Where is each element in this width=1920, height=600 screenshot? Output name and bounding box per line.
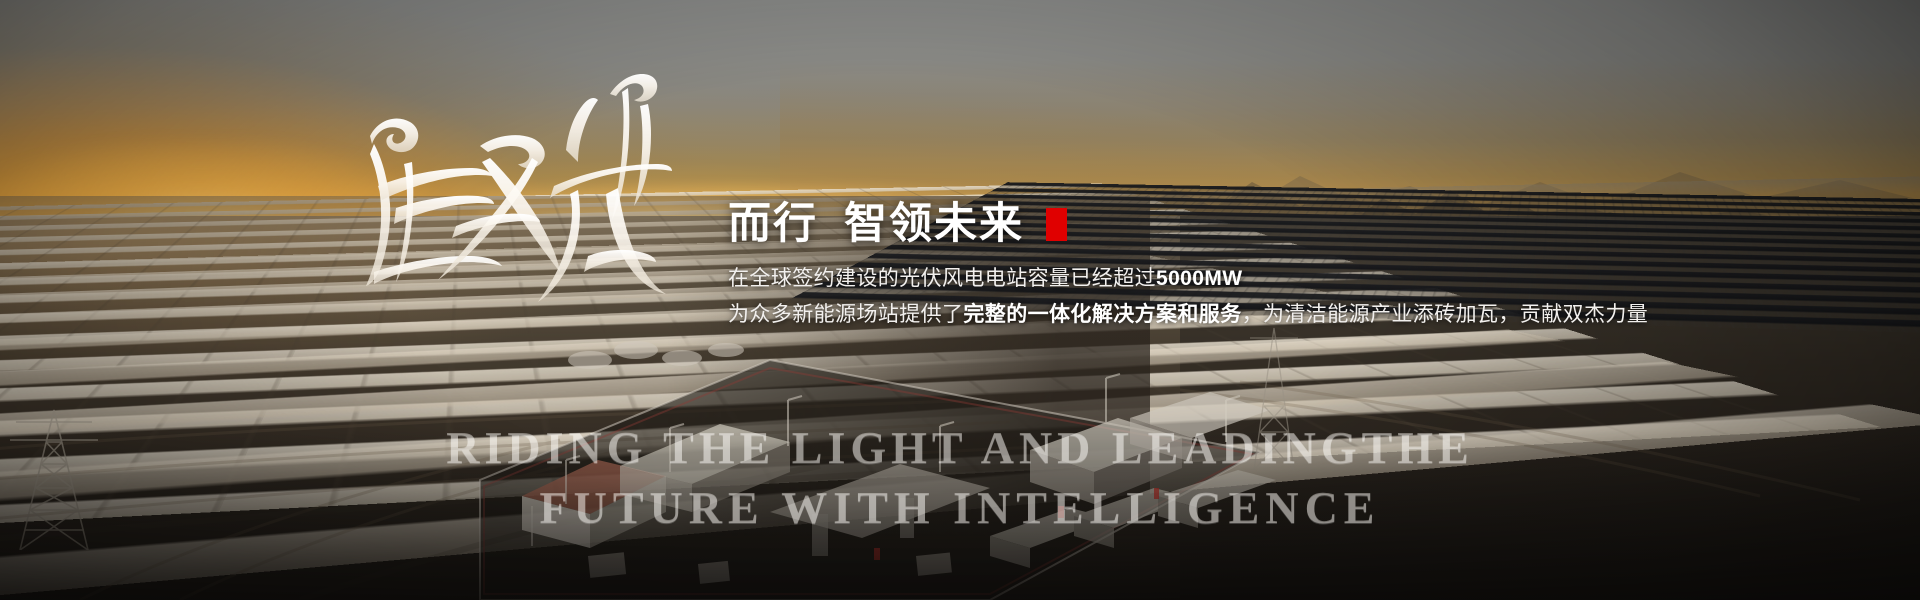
headline-text-block: 而行 智领未来 在全球签约建设的光伏风电电站容量已经超过5000MW 为众多新能… <box>728 200 1788 328</box>
headline-part-b: 智领未来 <box>844 200 1024 248</box>
subtitle-line-1-text: 在全球签约建设的光伏风电电站容量已经超过 <box>728 267 1156 290</box>
transmission-tower-left <box>8 400 128 550</box>
electrical-substation <box>470 300 1310 600</box>
subtitle-line-2: 为众多新能源场站提供了完整的一体化解决方案和服务，为清洁能源产业添砖加瓦，贡献双… <box>728 298 1788 328</box>
red-accent-block <box>1046 208 1067 241</box>
hero-banner: 而行 智领未来 在全球签约建设的光伏风电电站容量已经超过5000MW 为众多新能… <box>0 0 1920 600</box>
headline-part-a: 而行 <box>728 200 818 248</box>
subtitle-line-1: 在全球签约建设的光伏风电电站容量已经超过5000MW <box>728 262 1788 292</box>
subtitle-line-2-suffix: ，为清洁能源产业添砖加瓦，贡献双杰力量 <box>1242 303 1649 326</box>
subtitle-line-1-highlight: 5000MW <box>1156 267 1242 290</box>
subtitle-line-2-highlight: 完整的一体化解决方案和服务 <box>963 303 1241 326</box>
transmission-tower-center <box>1240 320 1310 470</box>
subtitle-line-2-prefix: 为众多新能源场站提供了 <box>728 303 963 326</box>
headline: 而行 智领未来 <box>728 200 1788 248</box>
